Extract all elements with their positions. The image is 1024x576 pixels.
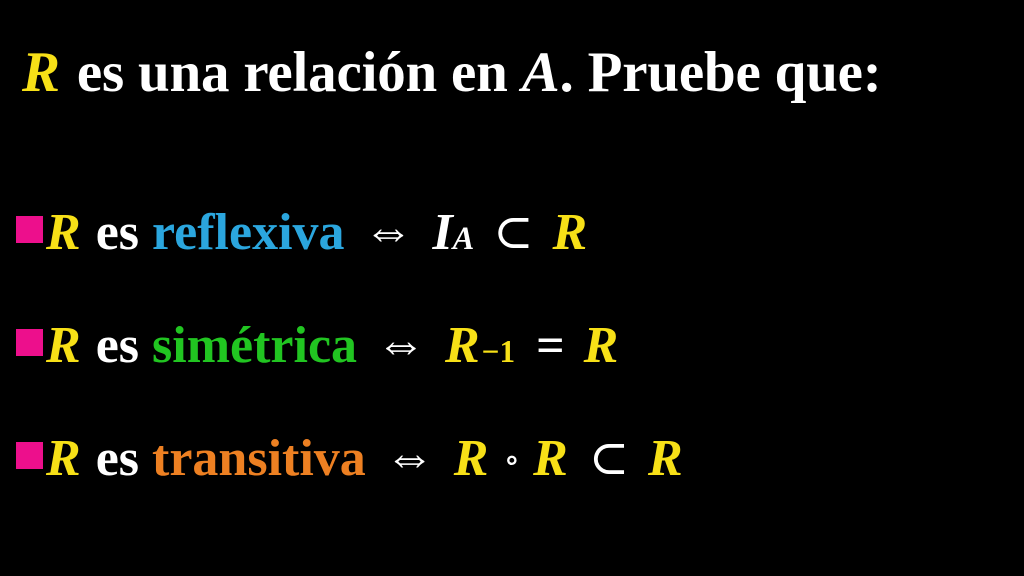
bullet-subject-r: R	[46, 316, 83, 376]
square-bullet-icon	[16, 442, 43, 469]
square-bullet-icon	[16, 329, 43, 356]
list-item: R es reflexiva ⇔ IA ⊂ R	[16, 202, 1016, 315]
bullet-verb-es: es	[96, 316, 139, 376]
property-list: R es reflexiva ⇔ IA ⊂ R R es simétrica ⇔	[16, 202, 1016, 541]
rhs-operand-r: R	[648, 429, 685, 489]
rhs-operand-r: R	[584, 316, 621, 376]
identity-subscript-a: A	[453, 208, 475, 268]
compose-left-operand-r: R	[454, 429, 491, 489]
bullet-verb-es: es	[96, 429, 139, 489]
iff-arrow-icon: ⇔	[364, 200, 414, 260]
bullet-property-transitiva: transitiva	[152, 429, 366, 489]
bullet-property-reflexiva: reflexiva	[152, 203, 345, 263]
rhs-operand-r: R	[553, 203, 590, 263]
bullet-subject-r: R	[46, 429, 83, 489]
bullet-verb-es: es	[96, 203, 139, 263]
heading-set-a: A	[522, 41, 560, 104]
list-item: R es simétrica ⇔ R−1 = R	[16, 315, 1016, 428]
bullet-subject-r: R	[46, 203, 83, 263]
iff-arrow-icon: ⇔	[385, 426, 435, 486]
composition-symbol-icon: ∘	[503, 431, 520, 491]
bullet-property-simetrica: simétrica	[152, 316, 357, 376]
heading-line-two: que:	[775, 41, 882, 104]
square-bullet-icon	[16, 216, 43, 243]
equals-symbol-icon: =	[536, 315, 565, 375]
compose-right-operand-r: R	[533, 429, 570, 489]
iff-arrow-icon: ⇔	[376, 313, 426, 373]
list-item: R es transitiva ⇔ R ∘ R ⊂ R	[16, 428, 1016, 541]
inverse-relation-r: R	[445, 316, 482, 376]
inverse-exponent: −1	[482, 322, 517, 382]
heading-text-after-set: . Pruebe	[560, 41, 761, 104]
heading-variable-r: R	[22, 41, 63, 104]
subset-symbol-icon: ⊂	[493, 203, 533, 263]
subset-symbol-icon: ⊂	[589, 429, 629, 489]
slide-canvas: R es una relación en A. Pruebe que: R es…	[0, 0, 1024, 576]
page-title: R es una relación en A. Pruebe que:	[22, 36, 1012, 110]
identity-relation-i: I	[433, 203, 453, 263]
heading-text-before-set: es una relación en	[63, 41, 522, 104]
